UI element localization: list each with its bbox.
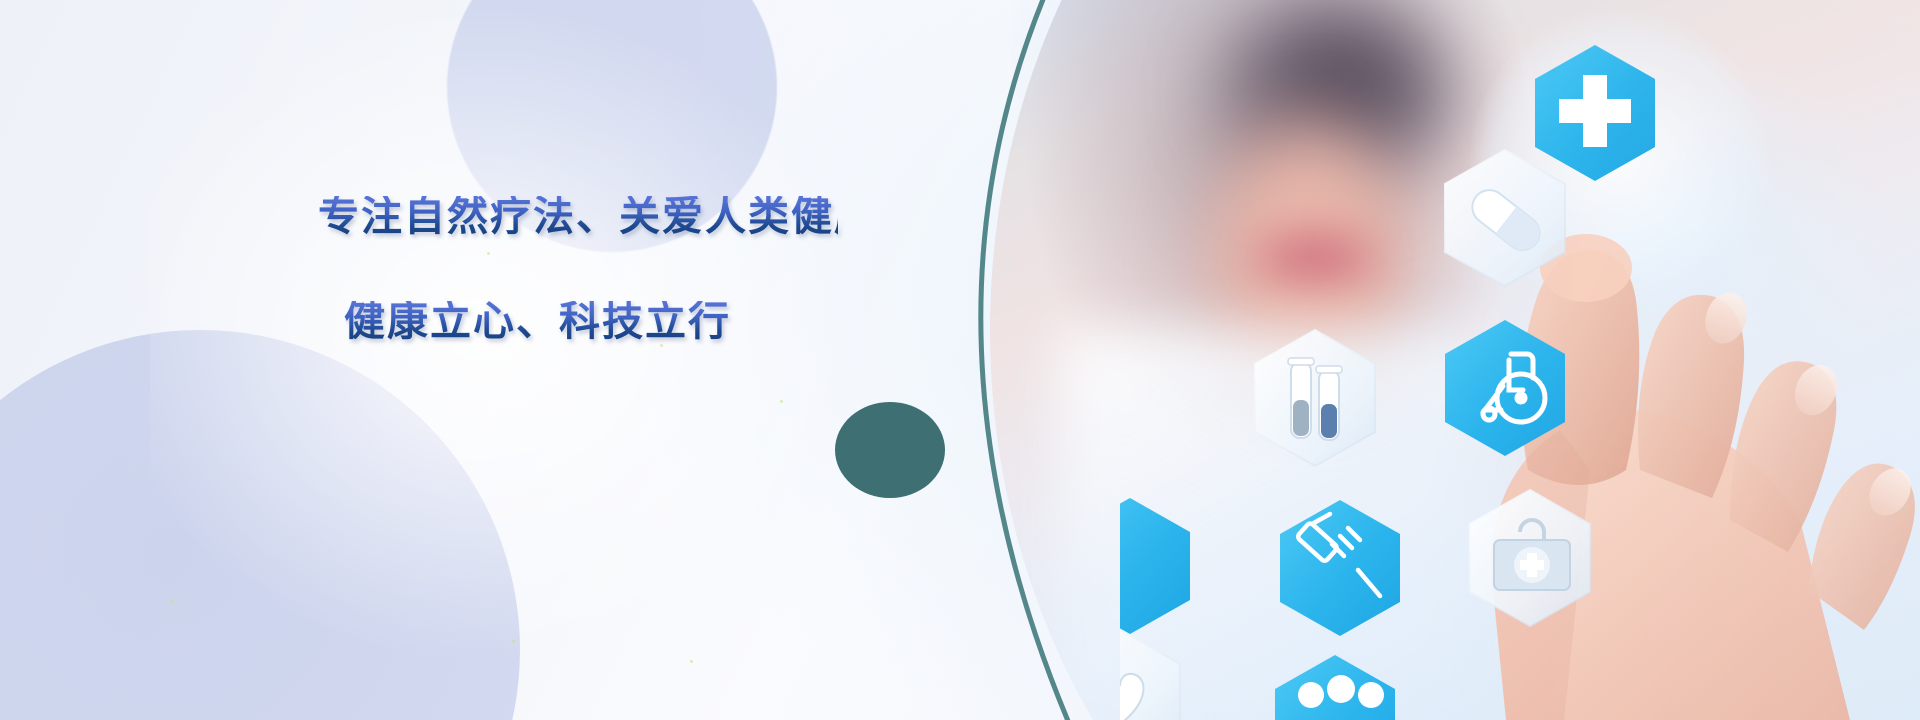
sparkle-dot: [512, 640, 515, 643]
hexagon-medical-cross: [1535, 45, 1655, 181]
sparkle-dot: [780, 400, 783, 403]
hexagon-wheelchair: [1445, 320, 1565, 456]
decor-haze: [150, 0, 930, 720]
decor-circle-bottom-left: [0, 330, 520, 720]
hexagon-capsule: [1445, 150, 1565, 286]
headline-line-2: 健康立心、科技立行: [344, 301, 838, 342]
hexagon-heart-pulse: [1120, 630, 1180, 720]
sparkle-dot: [690, 660, 693, 663]
headline-block: 专注自然疗法、关爱人类健康 健康立心、科技立行: [318, 196, 838, 342]
hero-banner: 专注自然疗法、关爱人类健康 健康立心、科技立行: [0, 0, 1920, 720]
sparkle-dot: [170, 600, 173, 603]
headline-line-1: 专注自然疗法、关爱人类健康: [318, 196, 838, 237]
hexagon-icon-cluster: [1120, 0, 1680, 720]
sparkle-dot: [660, 344, 663, 347]
hexagon-syringe-main: [1280, 500, 1400, 636]
hexagon-first-aid-kit: [1470, 490, 1590, 626]
hexagon-test-tubes: [1255, 330, 1375, 466]
sparkle-dot: [487, 252, 490, 255]
hexagon-syringe: [1120, 498, 1190, 634]
hexagon-family-group: [1275, 655, 1395, 720]
